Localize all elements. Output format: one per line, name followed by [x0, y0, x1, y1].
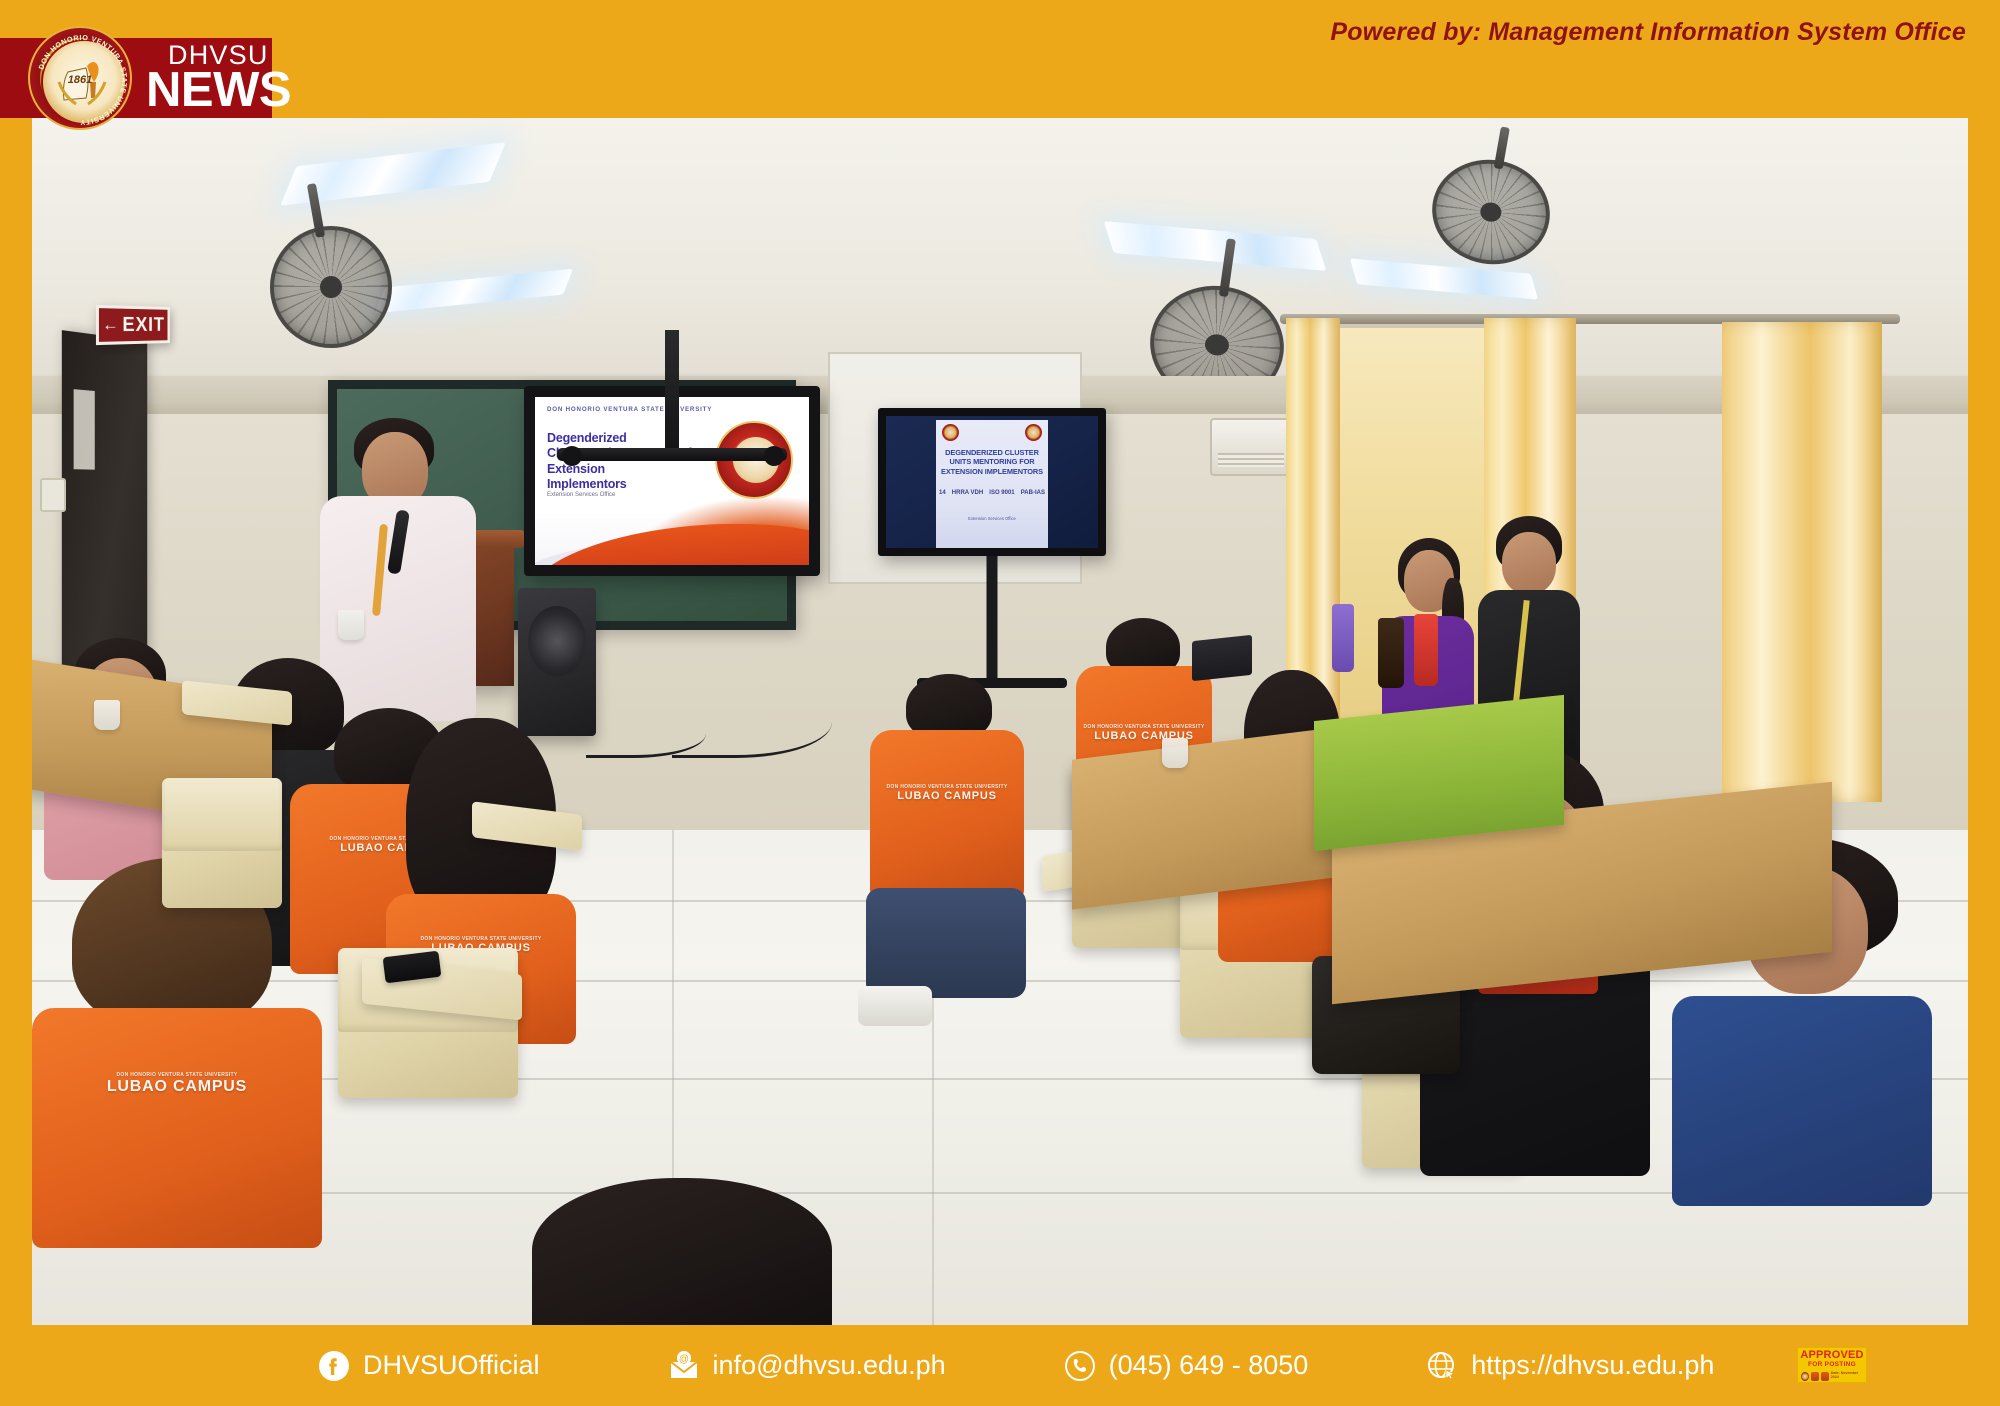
display-stand — [665, 330, 679, 460]
ceiling-fan-icon — [260, 216, 401, 357]
poster-logos — [936, 424, 1048, 441]
university-seal-icon: DON HONORIO VENTURA STATE UNIVERSITY 186… — [28, 26, 132, 130]
drinking-cup — [1162, 738, 1188, 768]
news-photo: ← EXIT DON HONORIO VENTURA STATE UNIVERS… — [32, 118, 1968, 1325]
footer-website[interactable]: https://dhvsu.edu.ph — [1426, 1350, 1714, 1382]
phone-icon — [1064, 1350, 1096, 1382]
shirt-campus-small: DON HONORIO VENTURA STATE UNIVERSITY — [1076, 724, 1212, 730]
approved-sub-label: FOR POSTING — [1808, 1362, 1856, 1369]
portable-speaker — [518, 588, 596, 736]
poster-badge-4: PAB-IAS — [1021, 490, 1045, 496]
badge-wordmark: DHVSU NEWS — [146, 40, 272, 115]
refreshments-table — [1314, 695, 1564, 851]
wall-socket — [40, 478, 66, 512]
approved-logo-3-icon — [1821, 1372, 1829, 1381]
air-conditioner — [1210, 418, 1292, 476]
approved-date: Date: November 2024 — [1831, 1372, 1863, 1379]
poster-title: DEGENDERIZED CLUSTER UNITS MENTORING FOR… — [941, 448, 1043, 476]
top-bar: Powered by: Management Information Syste… — [0, 0, 2000, 118]
poster-logo-left-icon — [942, 424, 959, 441]
tv-poster: DEGENDERIZED CLUSTER UNITS MENTORING FOR… — [936, 420, 1048, 556]
svg-text:@: @ — [678, 1354, 688, 1365]
tv-screen: DEGENDERIZED CLUSTER UNITS MENTORING FOR… — [886, 416, 1098, 548]
caster-wheel — [764, 446, 784, 466]
slide-university-header: DON HONORIO VENTURA STATE UNIVERSITY — [547, 406, 712, 413]
shirt-campus-large: LUBAO CAMPUS — [897, 790, 996, 802]
tv-stand — [987, 556, 998, 684]
exit-arrow-icon: ← — [102, 315, 119, 336]
photo-scene: ← EXIT DON HONORIO VENTURA STATE UNIVERS… — [32, 118, 1968, 1325]
poster-badge-2: HRRA VDH — [952, 490, 983, 496]
footer-bar: DHVSUOfficial @ info@dhvsu.edu.ph (045) … — [0, 1325, 2000, 1406]
approved-label: APPROVED — [1800, 1350, 1863, 1361]
attendee-orange-center: DON HONORIO VENTURA STATE UNIVERSITY LUB… — [862, 674, 1032, 1004]
news-card: Powered by: Management Information Syste… — [0, 0, 2000, 1406]
footer-facebook-label: DHVSUOfficial — [363, 1350, 540, 1381]
footer-email-label: info@dhvsu.edu.ph — [713, 1350, 946, 1381]
footer-phone-label: (045) 649 - 8050 — [1109, 1350, 1309, 1381]
chair — [162, 778, 282, 908]
tumbler — [1332, 604, 1354, 672]
shirt-campus-text: DON HONORIO VENTURA STATE UNIVERSITY LUB… — [32, 1072, 322, 1096]
poster-accreditation-badges: 14 HRRA VDH ISO 9001 PAB-IAS — [936, 490, 1048, 496]
poster-title-line2: UNITS MENTORING FOR — [949, 457, 1034, 466]
seal-year: 1861 — [30, 74, 130, 86]
soda-bottle — [1378, 618, 1404, 688]
email-icon: @ — [668, 1350, 700, 1382]
footer-email[interactable]: @ info@dhvsu.edu.ph — [668, 1350, 946, 1382]
dhvsu-news-badge: DON HONORIO VENTURA STATE UNIVERSITY 186… — [0, 38, 272, 118]
laptop — [1192, 635, 1252, 681]
shirt-campus-large: LUBAO CAMPUS — [107, 1078, 247, 1095]
poster-badge-1: 14 — [939, 490, 946, 496]
ceiling-fan-icon — [1424, 151, 1558, 274]
tv-monitor: DEGENDERIZED CLUSTER UNITS MENTORING FOR… — [878, 408, 1106, 556]
drinking-cup — [94, 700, 120, 730]
globe-icon — [1426, 1350, 1458, 1382]
approved-logos: Date: November 2024 — [1798, 1372, 1866, 1381]
exit-sign: ← EXIT — [96, 305, 170, 345]
slide-title-line3: Implementors — [547, 477, 627, 491]
poster-title-line3: EXTENSION IMPLEMENTORS — [941, 467, 1043, 476]
caster-wheel — [562, 446, 582, 466]
slide-subtitle: Extension Services Office — [547, 491, 615, 500]
powered-by-label: Powered by: Management Information Syste… — [1330, 18, 1966, 47]
footer-facebook[interactable]: DHVSUOfficial — [318, 1350, 540, 1382]
shirt-campus-small: DON HONORIO VENTURA STATE UNIVERSITY — [870, 784, 1024, 790]
attendee-foreground-orange: DON HONORIO VENTURA STATE UNIVERSITY LUB… — [32, 858, 322, 1238]
poster-body-text: Extension Services Office — [944, 516, 1040, 523]
slide-title-line1: Degenderized — [547, 431, 627, 445]
footer-phone[interactable]: (045) 649 - 8050 — [1064, 1350, 1309, 1382]
approved-for-posting-stamp: APPROVED FOR POSTING Date: November 2024 — [1797, 1347, 1867, 1383]
soda-bottle — [1414, 614, 1438, 686]
approved-logo-2-icon — [1811, 1372, 1819, 1381]
shirt-campus-small: DON HONORIO VENTURA STATE UNIVERSITY — [32, 1072, 322, 1078]
curtain — [1722, 322, 1882, 802]
approved-logo-1-icon — [1801, 1372, 1809, 1381]
shirt-campus-small: DON HONORIO VENTURA STATE UNIVERSITY — [386, 936, 576, 942]
shirt-campus-text: DON HONORIO VENTURA STATE UNIVERSITY LUB… — [870, 784, 1024, 802]
poster-badge-3: ISO 9001 — [989, 490, 1014, 496]
poster-title-line1: DEGENDERIZED CLUSTER — [945, 448, 1039, 457]
footer-website-label: https://dhvsu.edu.ph — [1471, 1350, 1714, 1381]
slide-decoration — [535, 513, 809, 565]
drinking-cup — [338, 610, 364, 640]
badge-news-text: NEWS — [146, 66, 272, 115]
shoe — [858, 986, 932, 1026]
facebook-icon — [318, 1350, 350, 1382]
room-door — [62, 330, 147, 672]
poster-logo-right-icon — [1025, 424, 1042, 441]
shirt-campus-text: DON HONORIO VENTURA STATE UNIVERSITY LUB… — [1076, 724, 1212, 742]
exit-sign-label: EXIT — [122, 313, 164, 336]
display-base — [557, 448, 787, 461]
attendee-foreground-head — [532, 1178, 832, 1325]
